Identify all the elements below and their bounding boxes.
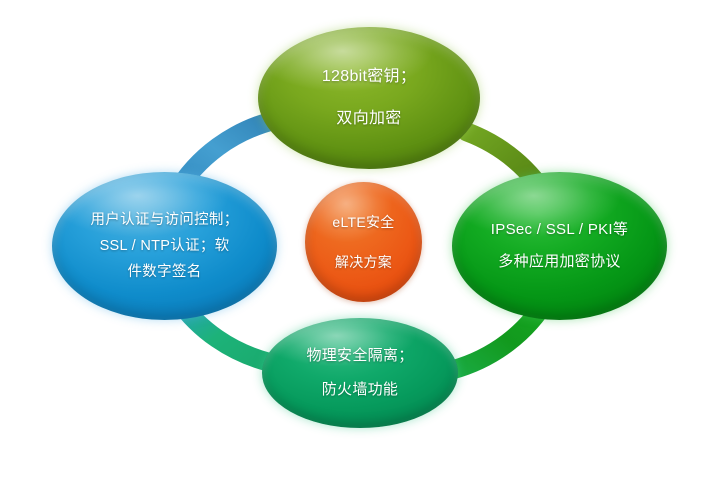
node-top-line-1: 128bit密钥；	[322, 56, 416, 98]
node-elte-security-solution[interactable]: eLTE安全 解决方案	[305, 182, 422, 302]
node-left-line-3: 件数字签名	[128, 259, 202, 285]
node-right-line-2: 多种应用加密协议	[498, 246, 620, 278]
node-center-line-2: 解决方案	[335, 242, 392, 282]
node-encryption-protocols[interactable]: IPSec / SSL / PKI等 多种应用加密协议	[452, 172, 667, 320]
node-physical-isolation-firewall[interactable]: 物理安全隔离； 防火墙功能	[262, 318, 458, 428]
node-authentication-access-control[interactable]: 用户认证与访问控制； SSL / NTP认证；软 件数字签名	[52, 172, 277, 320]
node-right-line-1: IPSec / SSL / PKI等	[491, 214, 628, 246]
node-encryption-key[interactable]: 128bit密钥； 双向加密	[258, 27, 480, 169]
node-top-line-2: 双向加密	[336, 98, 401, 140]
diagram-canvas: 128bit密钥； 双向加密 用户认证与访问控制； SSL / NTP认证；软 …	[0, 0, 723, 482]
node-left-line-1: 用户认证与访问控制；	[91, 207, 239, 233]
node-bottom-line-2: 防火墙功能	[322, 373, 399, 407]
node-left-line-2: SSL / NTP认证；软	[100, 233, 230, 259]
node-bottom-line-1: 物理安全隔离；	[306, 339, 413, 373]
node-center-line-1: eLTE安全	[332, 202, 394, 242]
